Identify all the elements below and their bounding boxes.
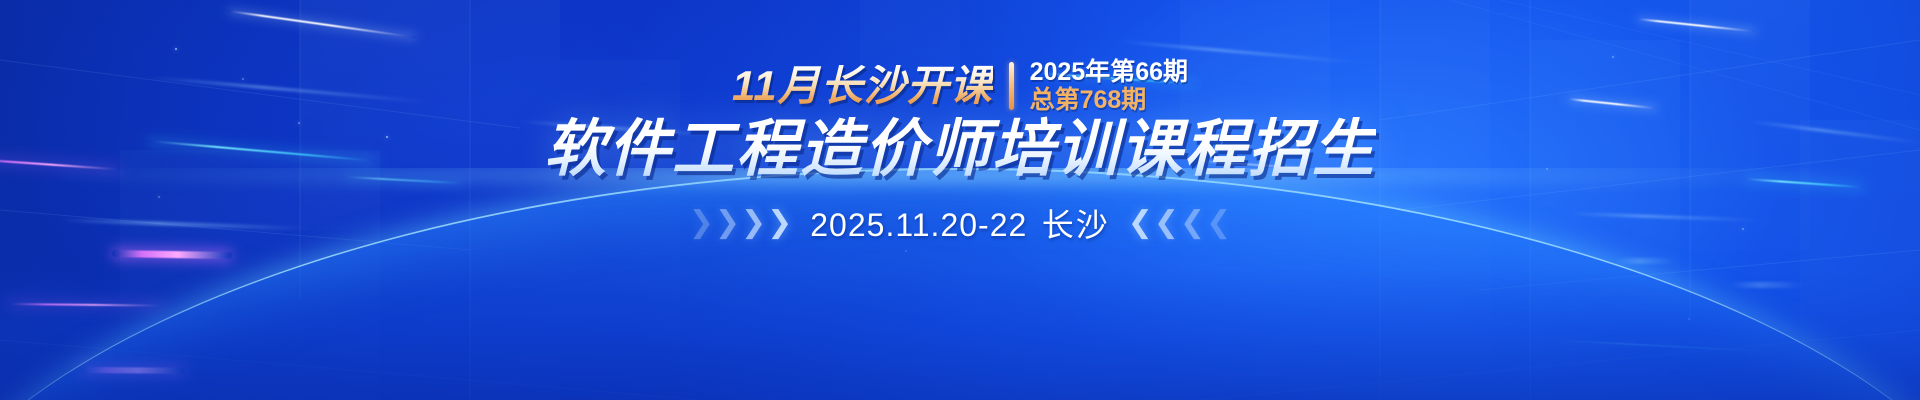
chevron-left-icon: ❮ (1206, 208, 1231, 238)
page-title: 软件工程造价师培训课程招生 (544, 116, 1376, 184)
date-and-city: 2025.11.20-22 长沙 (810, 200, 1110, 246)
event-date: 2025.11.20-22 (810, 207, 1027, 243)
chevron-left-icon: ❮ (1128, 208, 1153, 238)
chevron-left-icon: ❮ (1154, 208, 1179, 238)
chevron-left-icon: ❮ (1180, 208, 1205, 238)
chevrons-left-pointing-icon: ❮ ❮ ❮ ❮ (1128, 208, 1232, 238)
kicker-text: 11月长沙开课 (732, 65, 993, 107)
dateline-row: ❯ ❯ ❯ ❯ 2025.11.20-22 长沙 ❮ ❮ ❮ ❮ (689, 200, 1232, 246)
issue-block: 2025年第66期 总第768期 (1030, 58, 1188, 114)
course-promo-banner: 11月长沙开课 2025年第66期 总第768期 软件工程造价师培训课程招生 ❯… (0, 0, 1920, 400)
chevron-right-icon: ❯ (689, 208, 714, 238)
banner-content: 11月长沙开课 2025年第66期 总第768期 软件工程造价师培训课程招生 ❯… (0, 0, 1920, 400)
issue-total-label: 总第768期 (1030, 86, 1188, 114)
chevrons-right-pointing-icon: ❯ ❯ ❯ ❯ (689, 208, 793, 238)
kicker-row: 11月长沙开课 2025年第66期 总第768期 (732, 58, 1188, 114)
chevron-right-icon: ❯ (741, 208, 766, 238)
event-city: 长沙 (1042, 207, 1110, 243)
issue-year-label: 2025年第66期 (1030, 58, 1188, 86)
chevron-right-icon: ❯ (767, 208, 792, 238)
chevron-right-icon: ❯ (715, 208, 740, 238)
vertical-divider (1009, 62, 1014, 110)
